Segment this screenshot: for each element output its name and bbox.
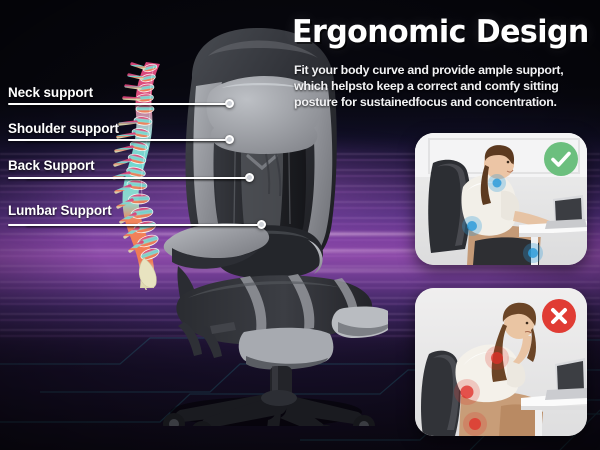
callout-underline-neck <box>8 103 226 105</box>
check-icon <box>544 142 578 176</box>
description-line: posture for sustainedfocus and concentra… <box>294 94 594 110</box>
description-line: Fit your body curve and provide ample su… <box>294 62 594 78</box>
callout-underline-back <box>8 177 246 179</box>
spine-anatomy-illustration <box>108 58 180 290</box>
callout-label-back: Back Support <box>8 158 95 173</box>
callout-dot-back <box>245 173 254 182</box>
callout-underline-lumbar <box>8 224 258 226</box>
bad-posture-photo-panel <box>415 288 587 436</box>
cross-icon <box>542 299 576 333</box>
good-posture-photo-panel <box>415 133 587 265</box>
callout-label-neck: Neck support <box>8 85 93 100</box>
callout-label-shoulder: Shoulder support <box>8 121 119 136</box>
callout-dot-shoulder <box>225 135 234 144</box>
callout-underline-shoulder <box>8 139 226 141</box>
page-title: Ergonomic Design <box>292 17 583 48</box>
callout-dot-lumbar <box>257 220 266 229</box>
description-text: Fit your body curve and provide ample su… <box>294 62 594 110</box>
callout-label-lumbar: Lumbar Support <box>8 203 112 218</box>
callout-dot-neck <box>225 99 234 108</box>
description-line: which helpsto keep a correct and comfy s… <box>294 78 594 94</box>
infographic-canvas: Neck supportShoulder supportBack Support… <box>0 0 600 450</box>
